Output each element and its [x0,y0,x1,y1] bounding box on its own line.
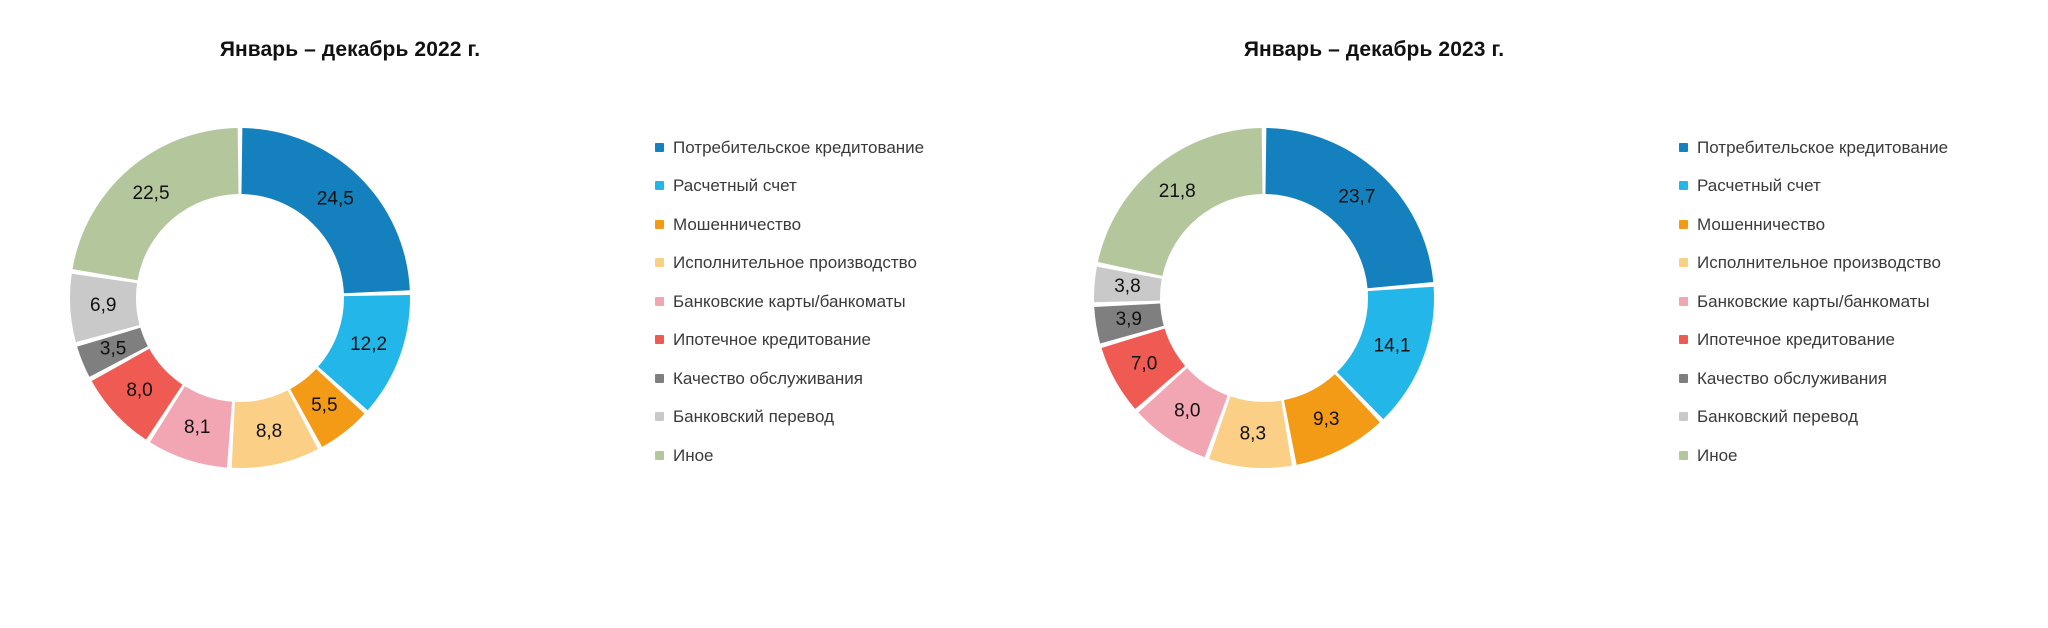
legend-2022: Потребительское кредитованиеРасчетный сч… [655,128,1015,475]
legend-item[interactable]: Качество обслуживания [655,359,1015,398]
legend-swatch-icon [1679,297,1688,306]
legend-item-label: Мошенничество [673,216,801,233]
donut-svg: 24,512,25,58,88,18,03,56,922,5 [20,78,460,518]
legend-item-label: Иное [673,447,714,464]
donut-slice-label: 3,9 [1116,309,1142,330]
legend-item[interactable]: Расчетный счет [1679,167,2039,206]
donut-slice-label: 21,8 [1159,181,1196,202]
legend-swatch-icon [1679,143,1688,152]
donut-slice-label: 24,5 [317,189,354,210]
legend-item-label: Расчетный счет [1697,177,1821,194]
legend-item-label: Потребительское кредитование [673,139,924,156]
legend-item[interactable]: Исполнительное производство [1679,244,2039,283]
panel-2023: Январь – декабрь 2023 г. 23,714,19,38,38… [1024,0,2048,628]
page-title-2023: Январь – декабрь 2023 г. [1024,38,1724,62]
donut-slice-label: 8,0 [1174,401,1200,422]
legend-item[interactable]: Ипотечное кредитование [1679,321,2039,360]
legend-item-label: Исполнительное производство [673,254,917,271]
donut-slice-label: 9,3 [1313,409,1339,430]
legend-item-label: Ипотечное кредитование [673,331,871,348]
legend-swatch-icon [1679,451,1688,460]
donut-slice-label: 3,5 [100,339,126,360]
legend-swatch-icon [655,412,664,421]
legend-item[interactable]: Банковский перевод [1679,398,2039,437]
legend-swatch-icon [655,258,664,267]
legend-item-label: Качество обслуживания [673,370,863,387]
donut-slice[interactable] [1098,128,1263,276]
donut-slice-label: 12,2 [350,334,387,355]
legend-item[interactable]: Банковский перевод [655,398,1015,437]
legend-item-label: Исполнительное производство [1697,254,1941,271]
donut-slice-label: 3,8 [1114,276,1140,297]
donut-slice[interactable] [1265,128,1433,288]
legend-item-label: Качество обслуживания [1697,370,1887,387]
legend-swatch-icon [655,181,664,190]
donut-chart-2023: 23,714,19,38,38,07,03,93,821,8 [1044,78,1484,518]
legend-item[interactable]: Мошенничество [1679,205,2039,244]
donut-svg: 23,714,19,38,38,07,03,93,821,8 [1044,78,1484,518]
legend-swatch-icon [1679,181,1688,190]
legend-item[interactable]: Ипотечное кредитование [655,321,1015,360]
donut-slice-label: 14,1 [1374,336,1411,357]
legend-swatch-icon [655,220,664,229]
legend-item[interactable]: Потребительское кредитование [1679,128,2039,167]
panel-2022: Январь – декабрь 2022 г. 24,512,25,58,88… [0,0,1024,628]
legend-item[interactable]: Расчетный счет [655,167,1015,206]
legend-item-label: Потребительское кредитование [1697,139,1948,156]
legend-item-label: Иное [1697,447,1738,464]
legend-item-label: Банковские карты/банкоматы [673,293,906,310]
legend-2023: Потребительское кредитованиеРасчетный сч… [1679,128,2039,475]
legend-swatch-icon [1679,374,1688,383]
legend-item-label: Банковский перевод [1697,408,1858,425]
legend-swatch-icon [1679,220,1688,229]
legend-swatch-icon [655,143,664,152]
legend-item[interactable]: Мошенничество [655,205,1015,244]
legend-swatch-icon [1679,412,1688,421]
legend-swatch-icon [1679,258,1688,267]
donut-slice-label: 23,7 [1338,186,1375,207]
legend-item-label: Банковский перевод [673,408,834,425]
donut-slice[interactable] [241,128,409,293]
page-title-2022: Январь – декабрь 2022 г. [0,38,700,62]
donut-slice-label: 8,0 [126,380,152,401]
donut-chart-2022: 24,512,25,58,88,18,03,56,922,5 [20,78,460,518]
legend-swatch-icon [1679,335,1688,344]
legend-item-label: Ипотечное кредитование [1697,331,1895,348]
legend-item[interactable]: Банковские карты/банкоматы [655,282,1015,321]
donut-slice-label: 8,1 [184,417,210,438]
donut-slice-label: 7,0 [1131,353,1157,374]
legend-swatch-icon [655,335,664,344]
donut-chart-board: Январь – декабрь 2022 г. 24,512,25,58,88… [0,0,2048,628]
legend-item[interactable]: Исполнительное производство [655,244,1015,283]
legend-item[interactable]: Иное [655,436,1015,475]
legend-item[interactable]: Иное [1679,436,2039,475]
legend-item[interactable]: Качество обслуживания [1679,359,2039,398]
donut-slice-label: 22,5 [133,183,170,204]
legend-item[interactable]: Потребительское кредитование [655,128,1015,167]
legend-swatch-icon [655,451,664,460]
legend-item-label: Расчетный счет [673,177,797,194]
donut-slice-label: 6,9 [90,295,116,316]
donut-slice-label: 8,3 [1240,424,1266,445]
legend-item-label: Мошенничество [1697,216,1825,233]
donut-slice-label: 5,5 [311,395,337,416]
legend-item[interactable]: Банковские карты/банкоматы [1679,282,2039,321]
donut-slice[interactable] [72,128,238,280]
legend-item-label: Банковские карты/банкоматы [1697,293,1930,310]
donut-slice-label: 8,8 [256,421,282,442]
legend-swatch-icon [655,297,664,306]
legend-swatch-icon [655,374,664,383]
